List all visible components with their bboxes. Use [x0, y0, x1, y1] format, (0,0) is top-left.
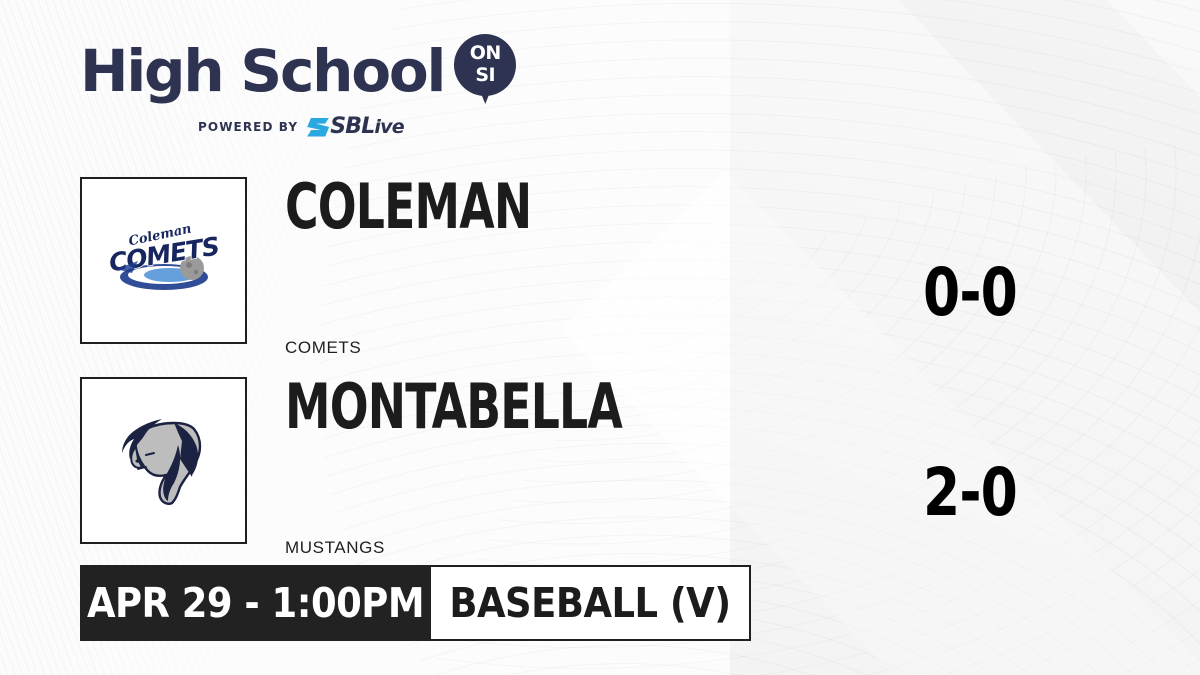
game-sport: BASEBALL (V): [431, 565, 751, 641]
team-mascot: MUSTANGS: [285, 538, 385, 558]
team-record: 2-0: [871, 460, 1069, 526]
background-tint: [730, 0, 1200, 675]
scoreboard-graphic: High School ON SI POWERED BY SBLive: [0, 0, 1200, 675]
team-name: COLEMAN: [285, 176, 531, 238]
pin-label-on: ON: [454, 42, 516, 64]
pin-label-si: SI: [454, 64, 516, 86]
team-logo-box: [80, 377, 247, 544]
brand-header: High School ON SI POWERED BY SBLive: [80, 34, 510, 138]
page-title: High School: [80, 42, 444, 100]
onsi-pin-icon: ON SI: [454, 34, 516, 108]
team-logo-box: COMETS Coleman: [80, 177, 247, 344]
sblive-wordmark-lower: ive: [374, 116, 403, 138]
montabella-mustangs-logo-icon: [98, 395, 230, 527]
powered-by-row: POWERED BY SBLive: [198, 116, 510, 138]
sblive-logo: SBLive: [307, 116, 404, 138]
sblive-s-mark-icon: [307, 118, 329, 137]
game-info-bar: APR 29 - 1:00PM BASEBALL (V): [80, 565, 751, 641]
team-record: 0-0: [871, 260, 1069, 326]
coleman-comets-logo-icon: COMETS Coleman: [98, 195, 230, 327]
game-datetime: APR 29 - 1:00PM: [80, 565, 431, 641]
team-mascot: COMETS: [285, 338, 361, 358]
powered-by-label: POWERED BY: [198, 120, 298, 134]
team-name: MONTABELLA: [285, 376, 622, 438]
sblive-wordmark-upper: SBL: [330, 114, 374, 139]
